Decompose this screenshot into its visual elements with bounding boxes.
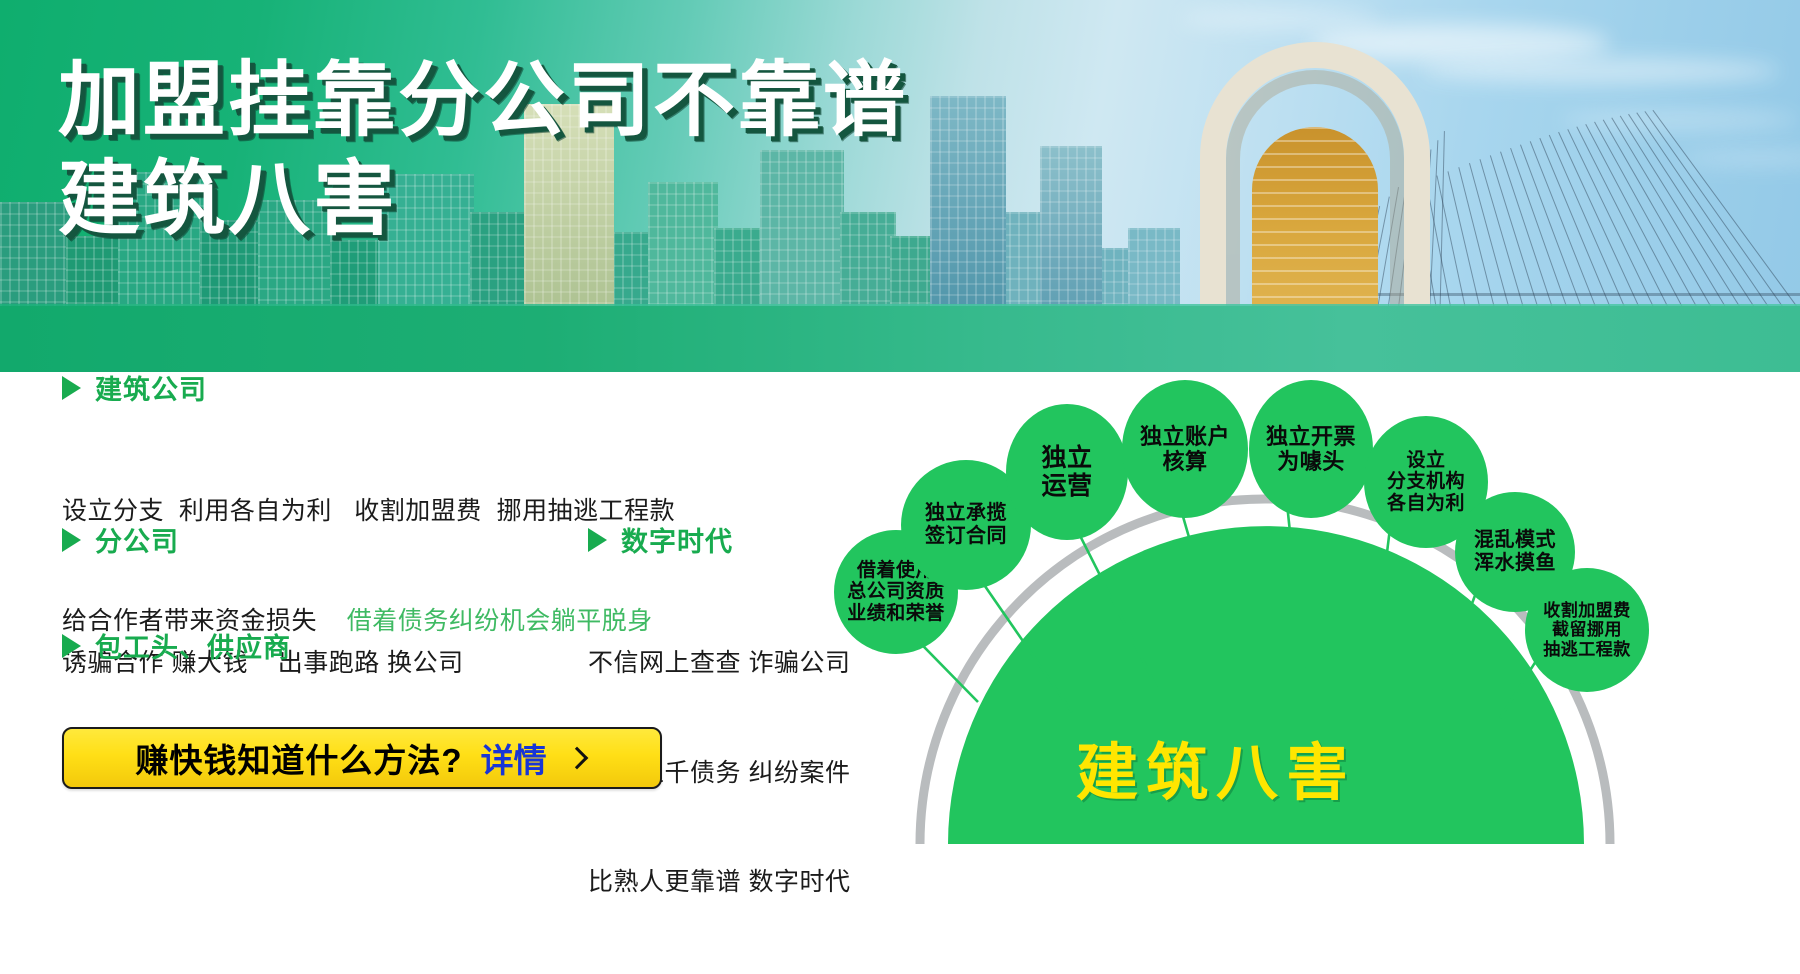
section-header: 建筑公司 — [62, 368, 675, 407]
bubble-text-line: 独立承揽 — [921, 502, 1011, 525]
bubble-text: 独立开票为噱头 — [1258, 424, 1364, 474]
section-header: 分公司 — [62, 520, 464, 559]
bubble-franchise-fee[interactable]: 收割加盟费截留挪用抽逃工程款 — [1525, 568, 1649, 692]
ground-strip — [0, 306, 1800, 372]
bubble-text-line: 分支机构 — [1383, 471, 1469, 493]
bubble-text: 收割加盟费截留挪用抽逃工程款 — [1535, 601, 1639, 659]
triangle-bullet-icon — [62, 634, 81, 658]
bridge-arch-inner — [1252, 127, 1378, 332]
section-title: 建筑公司 — [95, 368, 207, 407]
cta-detail-link[interactable]: 详情 — [481, 734, 547, 782]
bubble-independent-account[interactable]: 独立账户核算 — [1122, 380, 1248, 518]
bubble-text-line: 为噱头 — [1262, 449, 1360, 474]
triangle-bullet-icon — [62, 376, 81, 400]
bubble-text: 独立运营 — [1033, 444, 1100, 501]
bubble-text-line: 独立账户 — [1136, 424, 1234, 449]
section-title: 数字时代 — [621, 520, 733, 559]
bubble-text-line: 各自为利 — [1383, 493, 1469, 515]
bubble-text-line: 截留挪用 — [1539, 620, 1635, 639]
tower — [930, 96, 1006, 332]
hero-title-line-1: 加盟挂靠分公司不靠谱 — [58, 58, 908, 145]
triangle-bullet-icon — [62, 528, 81, 552]
hero-title: 加盟挂靠分公司不靠谱 建筑八害 — [58, 58, 908, 244]
section-title: 包工头、供应商 — [95, 626, 291, 665]
cloud-decoration — [1180, 8, 1380, 30]
bubble-text-line: 收割加盟费 — [1539, 601, 1635, 620]
bubble-independent-operation[interactable]: 独立运营 — [1006, 404, 1128, 540]
bridge-illustration — [1140, 32, 1780, 332]
bubble-text: 设立分支机构各自为利 — [1379, 450, 1473, 515]
radial-diagram: 借着使用总公司资质业绩和荣誉 独立承揽签订合同 独立运营 独立账户核算 独立开票… — [900, 372, 1800, 844]
section-body-line-1: 不信网上查查 诈骗公司 — [588, 645, 850, 682]
content-area: 建筑公司 设立分支 利用各自为利 收割加盟费 挪用抽逃工程款 给合作者带来资金损… — [0, 372, 1800, 844]
bubble-text-line: 业绩和荣誉 — [843, 603, 949, 625]
bubble-text-line: 运营 — [1037, 472, 1096, 501]
bubble-text-line: 混乱模式 — [1470, 529, 1560, 552]
bubble-text-line: 独立 — [1037, 444, 1096, 473]
hero-title-line-2: 建筑八害 — [58, 157, 908, 244]
bubble-text: 混乱模式浑水摸鱼 — [1466, 529, 1564, 575]
bubble-text-line: 独立开票 — [1262, 424, 1360, 449]
bubble-text-line: 设立 — [1383, 450, 1469, 472]
building-windows — [930, 96, 1006, 332]
cta-button[interactable]: 赚快钱知道什么方法? 详情 — [62, 727, 662, 789]
bubble-text: 独立承揽签订合同 — [917, 502, 1015, 548]
bubble-text-line: 签订合同 — [921, 525, 1011, 548]
section-body-line-3: 比熟人更靠谱 数字时代 — [588, 864, 850, 901]
chevron-right-icon — [565, 747, 588, 770]
section-header: 数字时代 — [588, 520, 850, 559]
cta-label: 赚快钱知道什么方法? — [135, 734, 462, 782]
cable — [1636, 112, 1786, 332]
section-header: 包工头、供应商 — [62, 626, 474, 665]
triangle-bullet-icon — [588, 528, 607, 552]
hero-banner: 加盟挂靠分公司不靠谱 建筑八害 — [0, 0, 1800, 372]
bubble-text-line: 浑水摸鱼 — [1470, 552, 1560, 575]
cable — [1567, 129, 1666, 332]
dome-center-label: 建筑八害 — [1076, 722, 1356, 812]
cable — [1439, 131, 1445, 332]
section-title: 分公司 — [95, 520, 179, 559]
bubble-text-line: 总公司资质 — [843, 581, 949, 603]
left-column: 建筑公司 设立分支 利用各自为利 收割加盟费 挪用抽逃工程款 给合作者带来资金损… — [0, 372, 900, 844]
cable — [1644, 111, 1800, 332]
cable — [1611, 117, 1741, 332]
bubble-text-line: 抽逃工程款 — [1539, 640, 1635, 659]
bubble-text-line: 核算 — [1136, 449, 1234, 474]
bubble-text: 独立账户核算 — [1132, 424, 1238, 474]
bubble-independent-invoicing[interactable]: 独立开票为噱头 — [1249, 380, 1373, 518]
